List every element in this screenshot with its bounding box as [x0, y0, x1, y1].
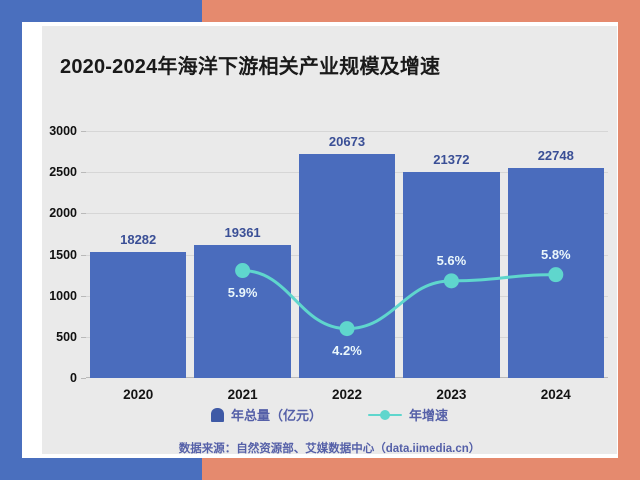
bar-group: 193612021	[190, 131, 294, 378]
bar-value-label: 22748	[504, 148, 608, 163]
line-swatch-icon	[368, 409, 402, 421]
legend-label-total: 年总量（亿元）	[231, 405, 322, 424]
y-tick-label: 1000	[49, 289, 77, 303]
bar[interactable]	[403, 172, 499, 378]
legend-item-total[interactable]: 年总量（亿元）	[211, 405, 322, 424]
bar-swatch-icon	[211, 408, 224, 422]
y-tick-label: 1500	[49, 248, 77, 262]
frame-band-bottom-orange	[202, 458, 640, 480]
y-tick-label: 2000	[49, 206, 77, 220]
legend-item-growth[interactable]: 年增速	[368, 405, 448, 424]
bar-group: 206732022	[295, 131, 399, 378]
bar-value-label: 19361	[190, 225, 294, 240]
bar-series: 1828220201936120212067320222137220232274…	[86, 131, 608, 378]
y-tick-label: 0	[70, 371, 77, 385]
x-tick-label: 2023	[399, 387, 503, 402]
infographic-chart-card: 2020-2024年海洋下游相关产业规模及增速 0500100015002000…	[0, 0, 640, 480]
frame-band-top-orange	[202, 0, 640, 22]
y-tick-label: 2500	[49, 165, 77, 179]
chart-title: 2020-2024年海洋下游相关产业规模及增速	[60, 54, 600, 80]
frame-band-bottom-blue	[0, 458, 202, 480]
chart-legend: 年总量（亿元） 年增速	[42, 405, 617, 424]
frame-band-left	[0, 0, 22, 480]
growth-rate-label: 5.6%	[437, 253, 467, 268]
data-source-note: 数据来源：自然资源部、艾媒数据中心（data.iimedia.cn）	[42, 440, 617, 456]
x-tick-label: 2022	[295, 387, 399, 402]
x-tick-label: 2020	[86, 387, 190, 402]
bar-value-label: 21372	[399, 152, 503, 167]
bar[interactable]	[90, 252, 186, 378]
bar[interactable]	[508, 168, 604, 378]
bar-value-label: 20673	[295, 134, 399, 149]
frame-band-right	[618, 0, 640, 480]
frame-band-top-blue	[0, 0, 202, 22]
y-tick-mark	[81, 378, 86, 379]
growth-rate-label: 5.8%	[541, 247, 571, 262]
x-tick-label: 2024	[504, 387, 608, 402]
y-tick-label: 500	[56, 330, 77, 344]
legend-label-growth: 年增速	[409, 405, 448, 424]
plot-area: 050010001500200025003000 182822020193612…	[86, 131, 608, 378]
growth-rate-label: 5.9%	[228, 285, 258, 300]
x-tick-label: 2021	[190, 387, 294, 402]
bar[interactable]	[194, 245, 290, 378]
y-tick-label: 3000	[49, 124, 77, 138]
growth-rate-label: 4.2%	[332, 343, 362, 358]
bar-group: 182822020	[86, 131, 190, 378]
bar-value-label: 18282	[86, 232, 190, 247]
